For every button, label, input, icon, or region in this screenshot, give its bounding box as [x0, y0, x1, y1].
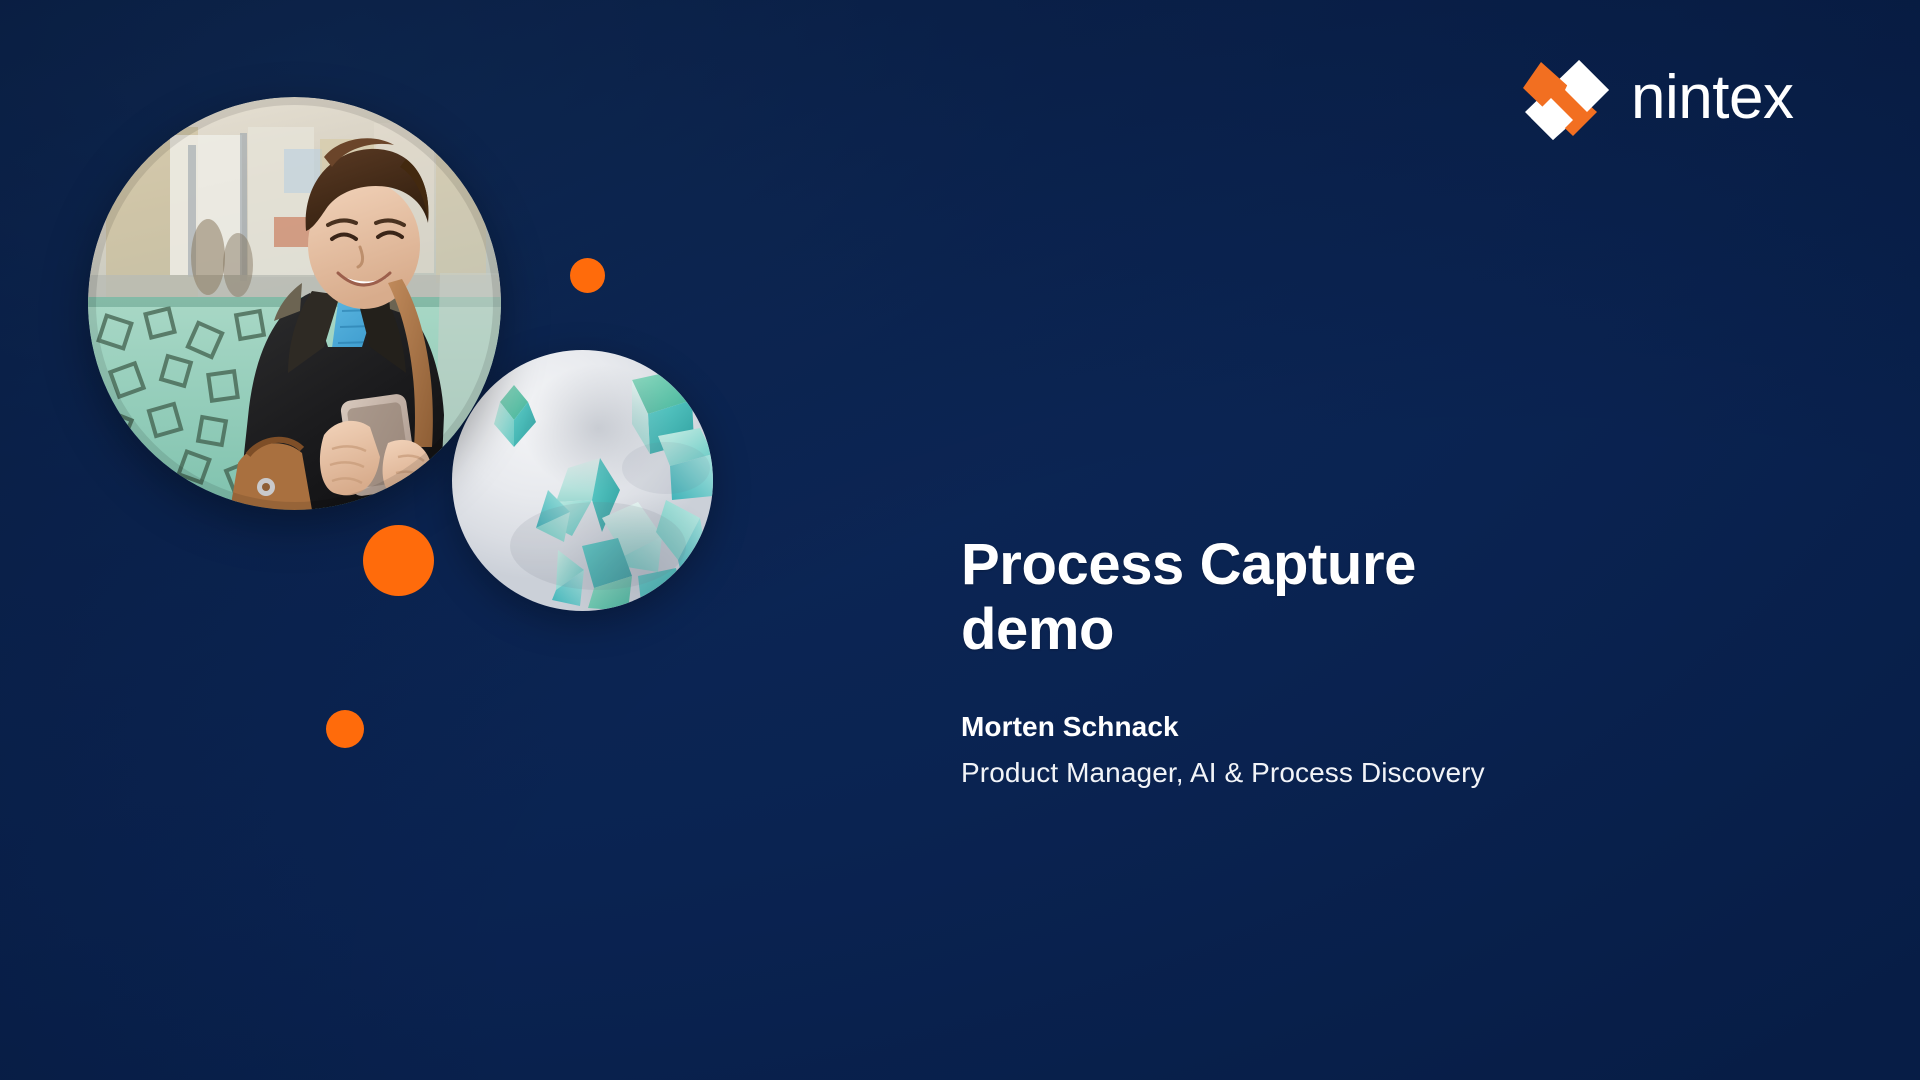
presenter-context-photo [88, 97, 501, 510]
presenter-name: Morten Schnack [961, 710, 1721, 744]
nintex-logo: nintex [1523, 58, 1853, 142]
slide-text-block: Process Capture demo Morten Schnack Prod… [961, 533, 1721, 790]
orange-dot-small-bottom [326, 710, 364, 748]
orange-dot-small-top [570, 258, 605, 293]
photo-illustration-svg [88, 97, 501, 510]
nintex-x-mark-icon [1523, 60, 1609, 140]
title-slide: nintex [0, 0, 1920, 1080]
presenter-role: Product Manager, AI & Process Discovery [961, 756, 1721, 790]
orange-dot-large [363, 525, 434, 596]
nintex-wordmark: nintex [1631, 67, 1793, 129]
slide-title: Process Capture demo [961, 533, 1561, 662]
